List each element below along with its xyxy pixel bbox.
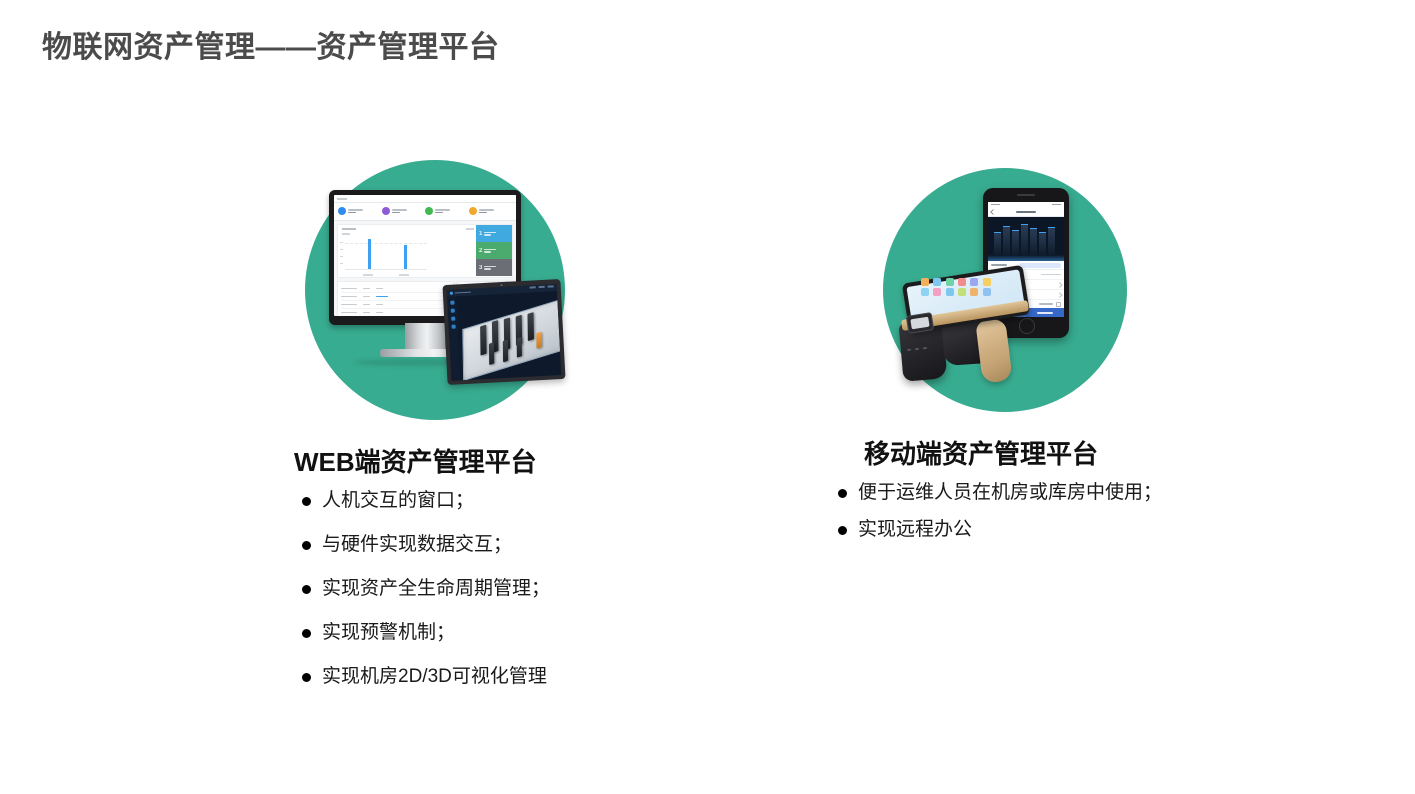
stat-card [338,207,382,215]
hero-glow [988,255,1064,261]
list-item: 人机交互的窗口； [296,491,750,510]
tile-text-placeholder [484,266,496,270]
list-item: 便于运维人员在机房或库房中使用； [832,483,1298,502]
topbar-logo-placeholder [337,198,347,200]
web-bullet-list: 人机交互的窗口； 与硬件实现数据交互； 实现资产全生命周期管理； 实现预警机制；… [296,491,750,686]
hero-rack [1039,232,1046,255]
tile-number: 1 [479,231,482,237]
app-title-placeholder [1016,211,1036,213]
hero-rack [1012,230,1019,255]
chart-x-axis [345,269,427,270]
hero-rack [1048,227,1055,255]
table-row [341,285,450,293]
highlight-pill [1019,263,1061,268]
stat-card [382,207,426,215]
highlight-label-placeholder [991,264,1007,266]
list-item: 实现远程办公 [832,520,1298,539]
app-icon[interactable] [921,288,929,296]
tile-green[interactable]: 2 [476,242,512,259]
stat-icon-purple [382,207,390,215]
table-row [341,309,450,316]
app-icon[interactable] [921,278,929,286]
stat-card [469,207,513,215]
app-icon[interactable] [946,278,954,286]
server-rack [503,340,508,363]
app-icon[interactable] [983,278,991,286]
table-row [341,301,450,309]
laptop-icon [442,279,565,385]
tile-gray[interactable]: 3 [476,259,512,276]
stat-text-placeholder [348,209,363,213]
app-icon[interactable] [970,278,978,286]
stat-text-placeholder [479,209,494,213]
stat-icon-green [425,207,433,215]
highlighted-rack [536,332,541,349]
stat-text-placeholder [392,209,407,213]
chart-y-tick [340,263,343,264]
chart-bar [368,239,371,269]
laptop-camera-icon [500,284,502,286]
appbar-title-placeholder [455,291,471,293]
datacenter-3d-view [456,291,561,380]
rfid-handheld-scanner-icon [895,268,1045,388]
app-icon[interactable] [933,278,941,286]
tile-blue[interactable]: 1 [476,225,512,242]
app-icon[interactable] [983,288,991,296]
app-icon[interactable] [933,288,941,296]
list-item: 与硬件实现数据交互； [296,535,750,554]
chart-title-placeholder [342,228,356,230]
stat-card [425,207,469,215]
dashboard-topbar [334,195,516,203]
status-carrier-placeholder [991,204,1000,206]
app-navbar [988,207,1064,217]
chart-bar [404,245,407,269]
hero-rack [1021,224,1028,255]
tile-number: 2 [479,248,482,254]
mobile-illustration [883,168,1127,412]
sidebar-icon[interactable] [451,325,455,329]
server-rack [489,342,494,365]
app-icon[interactable] [970,288,978,296]
tile-text-placeholder [484,249,496,253]
app-icon[interactable] [946,288,954,296]
list-item: 实现预警机制； [296,623,750,642]
web-column-heading: WEB端资产管理平台 [294,442,750,479]
stat-text-placeholder [435,209,450,213]
chart-x-tick [363,274,373,276]
sidebar-icon[interactable] [450,309,454,313]
scanner-app-grid [921,278,993,296]
phone-speaker-icon [1017,194,1035,196]
sidebar-icon[interactable] [451,317,455,321]
status-battery-placeholder [1052,204,1061,206]
mobile-bullet-list: 便于运维人员在机房或库房中使用； 实现远程办公 [832,483,1298,539]
app-hero-image [988,217,1064,261]
back-arrow-icon[interactable] [990,209,996,215]
chart-gridline [345,243,427,245]
server-rack [480,325,487,356]
chart-y-tick [340,256,343,257]
hero-rack [994,232,1001,255]
chart-subtitle-placeholder [342,233,350,235]
sidebar-icon[interactable] [450,301,454,305]
column-web: 1 2 3 [280,160,750,711]
dashboard-bar-chart: 1 2 3 [337,224,513,278]
chart-x-tick [399,274,409,276]
app-icon[interactable] [958,278,966,286]
laptop-screen [447,284,562,381]
tile-text-placeholder [484,232,496,236]
hero-rack [1003,226,1010,255]
dashboard-stat-row [334,203,516,221]
server-rack [517,337,522,358]
chart-y-tick [340,242,343,243]
page-title: 物联网资产管理——资产管理平台 [42,22,500,66]
scanner-grip [975,318,1012,383]
list-item: 实现资产全生命周期管理； [296,579,750,598]
monitor-neck [405,323,445,351]
slide-root: 物联网资产管理——资产管理平台 [0,0,1415,794]
web-illustration: 1 2 3 [305,160,565,420]
dashboard-table [337,281,454,316]
stat-icon-orange [469,207,477,215]
dashboard-tile-group: 1 2 3 [476,225,512,276]
tile-number: 3 [479,265,482,271]
hero-rack [1030,228,1037,255]
appbar-logo-icon [450,292,453,295]
stat-icon-blue [338,207,346,215]
room-floor [462,298,561,380]
column-mobile: 移动端资产管理平台 便于运维人员在机房或库房中使用； 实现远程办公 [828,168,1298,557]
server-rack [527,312,534,341]
list-item: 实现机房2D/3D可视化管理 [296,667,750,686]
mobile-column-heading: 移动端资产管理平台 [864,434,1298,471]
table-row [341,293,450,301]
app-icon[interactable] [958,288,966,296]
chart-legend-placeholder [466,228,474,230]
chart-y-tick [340,249,343,250]
